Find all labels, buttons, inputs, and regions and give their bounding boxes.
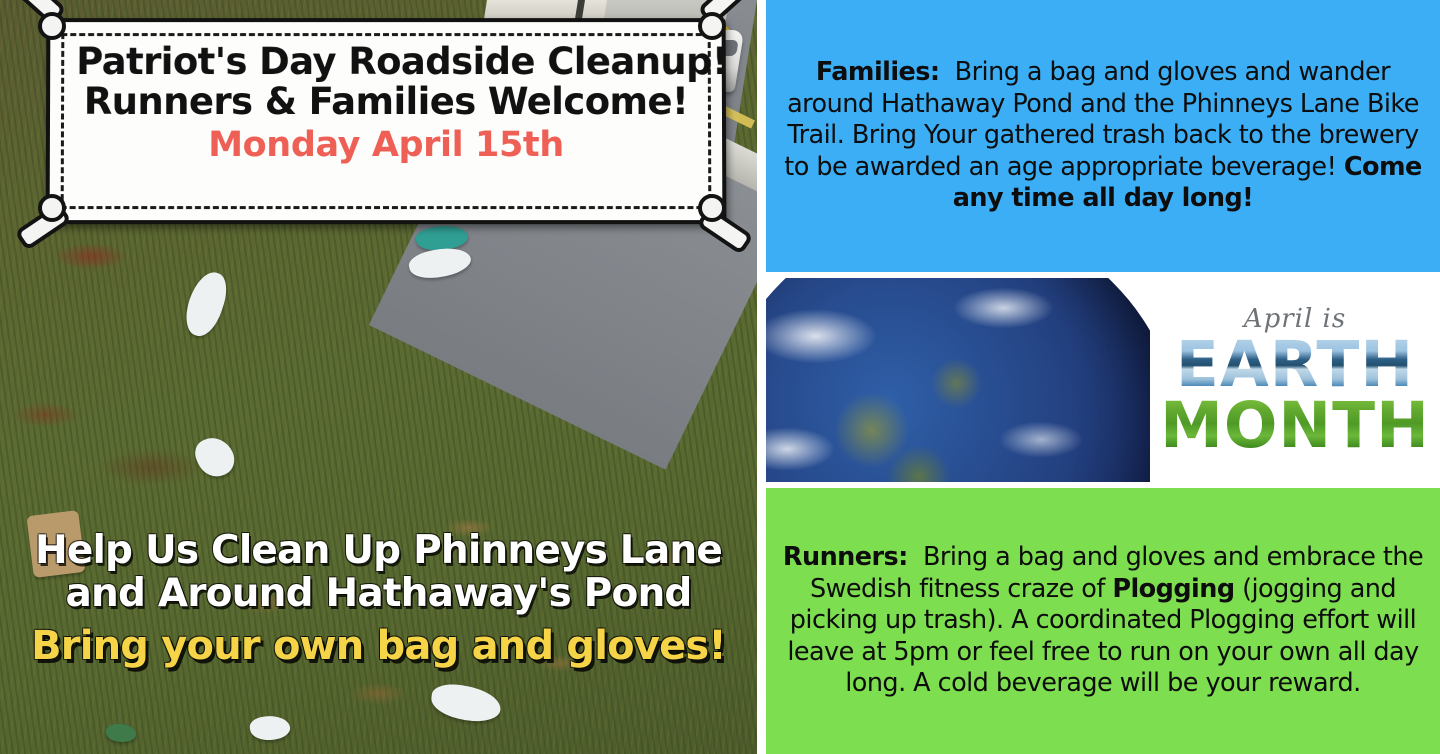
photo-headline-block: Help Us Clean Up Phinneys Lane and Aroun… xyxy=(0,529,757,668)
families-label: Families: xyxy=(816,57,940,87)
families-copy: Families: Bring a bag and gloves and wan… xyxy=(782,57,1424,214)
banner-grommet-bottom-left-icon xyxy=(38,194,66,222)
roadside-photo-panel: Patriot's Day Roadside Cleanup! Runners … xyxy=(0,0,757,754)
runners-info-panel: Runners: Bring a bag and gloves and embr… xyxy=(766,488,1440,754)
banner-text-block: Patriot's Day Roadside Cleanup! Runners … xyxy=(50,42,722,164)
banner-title-line2: Runners & Families Welcome! xyxy=(76,82,696,122)
banner-title-line1: Patriot's Day Roadside Cleanup! xyxy=(76,42,696,82)
earth-month-logo: April is EARTH MONTH xyxy=(1150,278,1440,482)
families-info-panel: Families: Bring a bag and gloves and wan… xyxy=(766,0,1440,272)
event-banner: Patriot's Day Roadside Cleanup! Runners … xyxy=(46,18,718,216)
right-column: Families: Bring a bag and gloves and wan… xyxy=(766,0,1440,754)
earth-month-word-month: MONTH xyxy=(1160,396,1430,456)
banner-grommet-top-right-icon xyxy=(698,12,726,40)
headline-byo-line: Bring your own bag and gloves! xyxy=(14,624,743,668)
headline-line1: Help Us Clean Up Phinneys Lane xyxy=(14,529,743,573)
runners-copy: Runners: Bring a bag and gloves and embr… xyxy=(780,542,1426,699)
earth-globe-icon xyxy=(766,278,1150,482)
runners-plogging-term: Plogging xyxy=(1112,574,1234,604)
banner-sign-board: Patriot's Day Roadside Cleanup! Runners … xyxy=(46,18,727,224)
earth-month-strip: April is EARTH MONTH xyxy=(766,278,1440,482)
litter-item xyxy=(106,724,136,742)
runners-label: Runners: xyxy=(783,542,908,572)
headline-line2: and Around Hathaway's Pond xyxy=(14,572,743,616)
earth-from-space-photo xyxy=(766,278,1150,482)
earth-month-word-earth: EARTH xyxy=(1176,335,1414,395)
banner-event-date: Monday April 15th xyxy=(76,127,696,164)
poster-root: Patriot's Day Roadside Cleanup! Runners … xyxy=(0,0,1440,754)
banner-grommet-top-left-icon xyxy=(38,12,66,40)
banner-grommet-bottom-right-icon xyxy=(698,194,726,222)
